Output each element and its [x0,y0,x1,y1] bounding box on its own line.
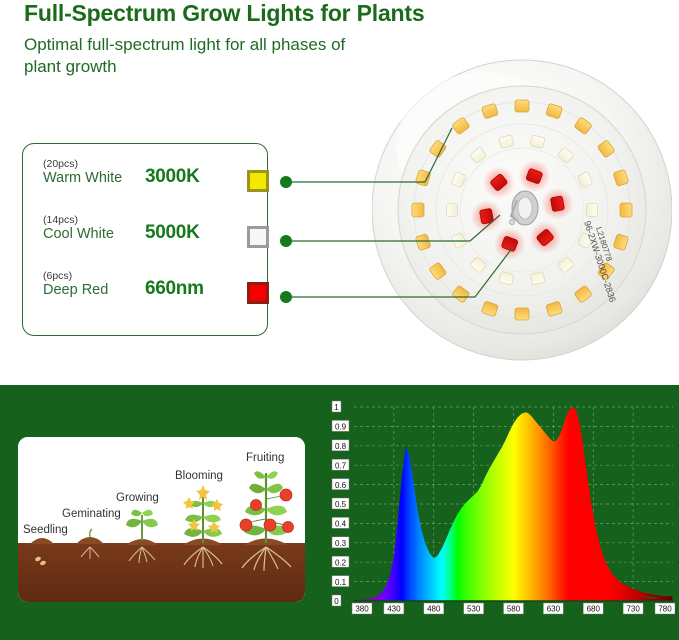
spec-card: (20pcs) Warm White 3000K (14pcs) Cool Wh… [22,143,268,336]
callout-dot-cool-white [280,235,292,247]
top-section: Full-Spectrum Grow Lights for Plants Opt… [0,0,679,385]
page-subtitle: Optimal full-spectrum light for all phas… [24,34,354,79]
spec-count: (14pcs) [43,214,78,226]
svg-text:0: 0 [334,597,339,606]
svg-text:380: 380 [355,605,369,614]
color-swatch-cool-white [247,226,269,248]
svg-text:0.7: 0.7 [335,461,347,470]
spectrum-chart: 00.10.20.30.40.50.60.70.80.9138043048053… [330,395,675,630]
page-title: Full-Spectrum Grow Lights for Plants [24,0,424,27]
svg-text:0.1: 0.1 [335,578,347,587]
svg-text:680: 680 [587,605,601,614]
svg-text:630: 630 [547,605,561,614]
svg-text:0.2: 0.2 [335,558,347,567]
spec-count: (6pcs) [43,270,72,282]
svg-text:780: 780 [658,605,672,614]
spec-value: 660nm [145,278,204,300]
color-swatch-warm-white [247,170,269,192]
stage-label: Geminating [62,508,121,520]
color-swatch-deep-red [247,282,269,304]
svg-text:730: 730 [626,605,640,614]
svg-text:0.9: 0.9 [335,423,347,432]
callout-dot-deep-red [280,291,292,303]
spec-label: Cool White [43,226,114,242]
bottom-green-panel: Seedling Geminating [0,385,679,640]
spec-value: 5000K [145,222,200,244]
stage-label: Blooming [175,470,223,482]
spec-row: (14pcs) Cool White 5000K [23,212,267,264]
callout-dot-warm-white [280,176,292,188]
stage-label: Growing [116,492,159,504]
svg-text:1: 1 [334,403,339,412]
stage-label: Fruiting [246,452,284,464]
spec-row: (20pcs) Warm White 3000K [23,156,267,208]
spec-row: (6pcs) Deep Red 660nm [23,268,267,320]
svg-text:0.4: 0.4 [335,520,347,529]
growth-stages-card: Seedling Geminating [18,437,305,602]
svg-text:0.3: 0.3 [335,539,347,548]
spec-count: (20pcs) [43,158,78,170]
stage-label: Seedling [23,524,68,536]
svg-text:480: 480 [427,605,441,614]
svg-text:530: 530 [467,605,481,614]
spec-label: Deep Red [43,282,108,298]
svg-text:0.8: 0.8 [335,442,347,451]
product-infographic: Full-Spectrum Grow Lights for Plants Opt… [0,0,679,640]
led-bulb-photo: 96-2XW-3000C-2836 L2180778 [372,50,672,375]
svg-text:430: 430 [387,605,401,614]
svg-text:580: 580 [507,605,521,614]
svg-text:0.6: 0.6 [335,481,347,490]
spec-label: Warm White [43,170,122,186]
svg-text:0.5: 0.5 [335,500,347,509]
spec-value: 3000K [145,166,200,188]
